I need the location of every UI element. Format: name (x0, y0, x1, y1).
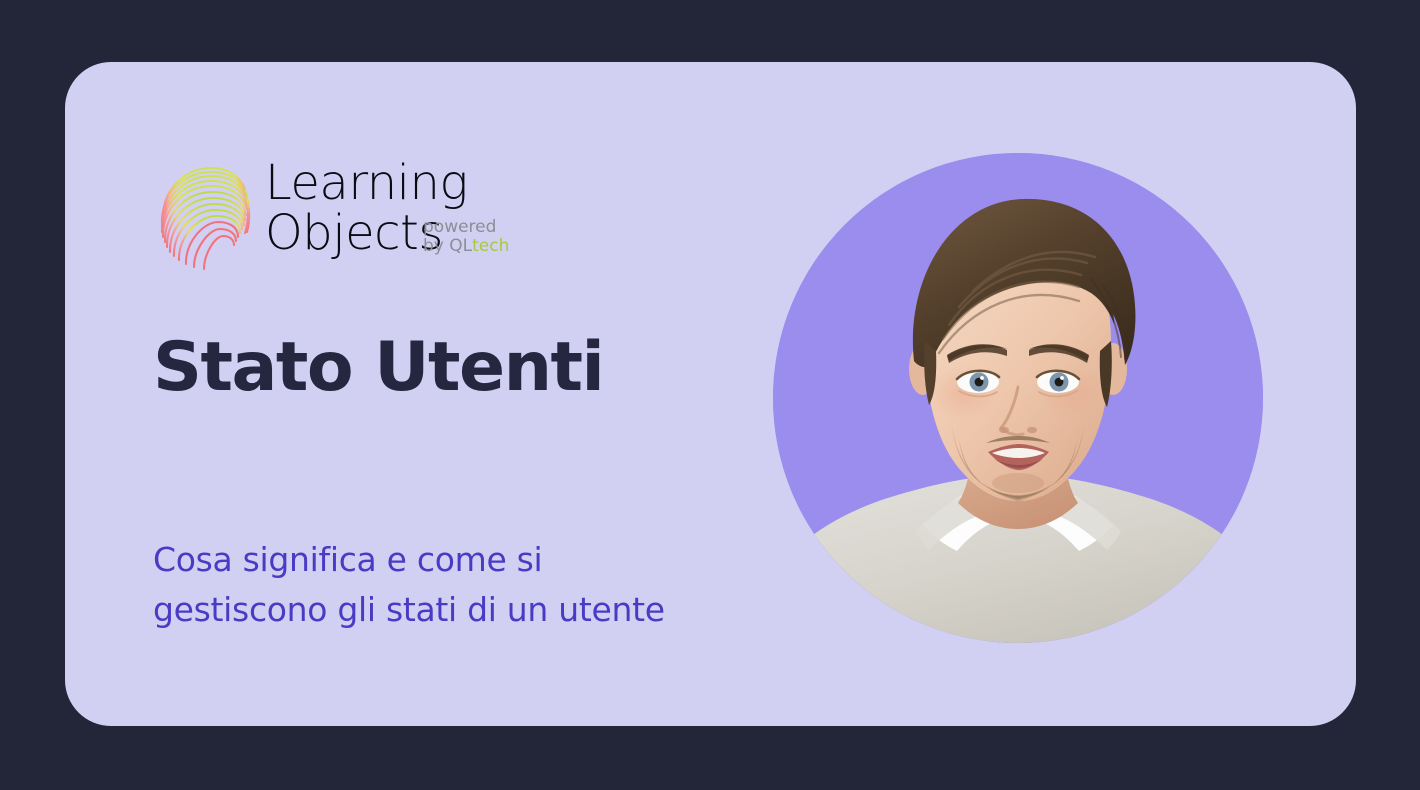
presenter-portrait-image (773, 153, 1263, 643)
page-subtitle-line-2: gestiscono gli stati di un utente (153, 585, 773, 635)
logo-tagline: powered by QLtech (423, 218, 509, 256)
learning-objects-logo-icon (153, 159, 251, 271)
brand-logo: Learning Objects powered by QLtech (153, 156, 468, 271)
slide-card: Learning Objects powered by QLtech Stato… (65, 62, 1356, 726)
speaker-avatar (773, 153, 1263, 643)
logo-tagline-line-2: by QLtech (423, 237, 509, 256)
page-subtitle-line-1: Cosa significa e come si (153, 535, 773, 585)
logo-tagline-accent: tech (472, 236, 509, 256)
logo-tagline-line-1: powered (423, 218, 509, 237)
logo-line-learning: Learning (265, 158, 468, 208)
page-title: Stato Utenti (153, 329, 603, 407)
logo-tagline-prefix: by QL (423, 236, 472, 256)
logo-wordmark: Learning Objects powered by QLtech (265, 156, 468, 258)
page-subtitle: Cosa significa e come si gestiscono gli … (153, 535, 773, 635)
